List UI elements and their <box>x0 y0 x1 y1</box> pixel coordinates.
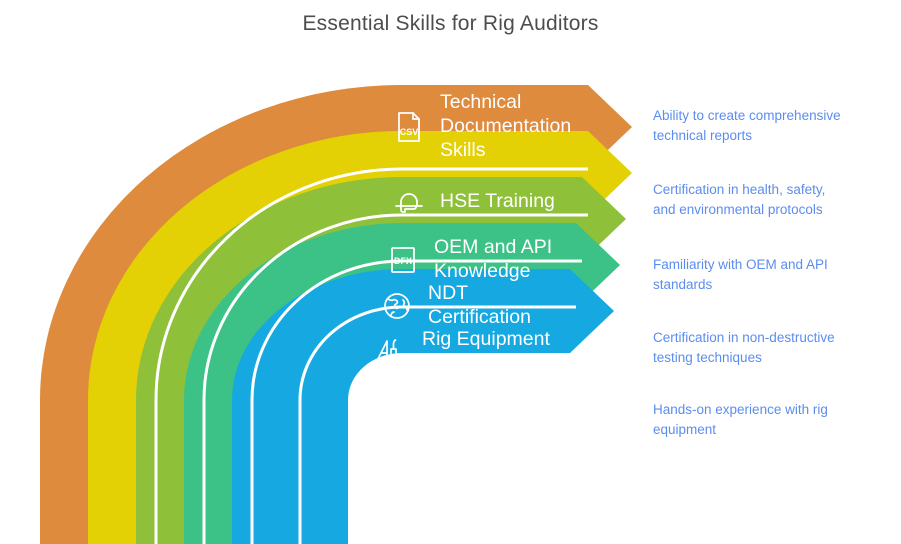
band-label-hse-training[interactable]: HSE Training <box>392 184 555 220</box>
hard-hat-icon <box>392 185 426 219</box>
description-ndt-certification: Certification in non-destructive testing… <box>653 328 885 367</box>
band-label-technical-documentation-skills[interactable]: CSV Technical Documentation Skills <box>392 88 571 166</box>
description-technical-documentation-skills: Ability to create comprehensive technica… <box>653 106 885 145</box>
globe-icon <box>380 289 414 323</box>
dfx-file-icon: DFX <box>386 243 420 277</box>
band-title: Technical Documentation Skills <box>440 91 571 162</box>
band-label-rig-equipment-experience[interactable]: Rig Equipment Experience <box>374 322 550 382</box>
infographic-canvas: Essential Skills for Rig Auditors CSV <box>0 0 901 544</box>
description-rig-equipment-experience: Hands-on experience with rig equipment <box>653 400 885 439</box>
svg-text:CSV: CSV <box>400 127 419 137</box>
description-oem-and-api-knowledge: Familiarity with OEM and API standards <box>653 255 885 294</box>
csv-document-icon: CSV <box>392 110 426 144</box>
oil-rig-icon <box>374 335 408 369</box>
band-title: HSE Training <box>440 190 555 214</box>
description-hse-training: Certification in health, safety, and env… <box>653 180 885 219</box>
band-title: Rig Equipment Experience <box>422 328 550 376</box>
svg-text:DFX: DFX <box>394 256 412 266</box>
